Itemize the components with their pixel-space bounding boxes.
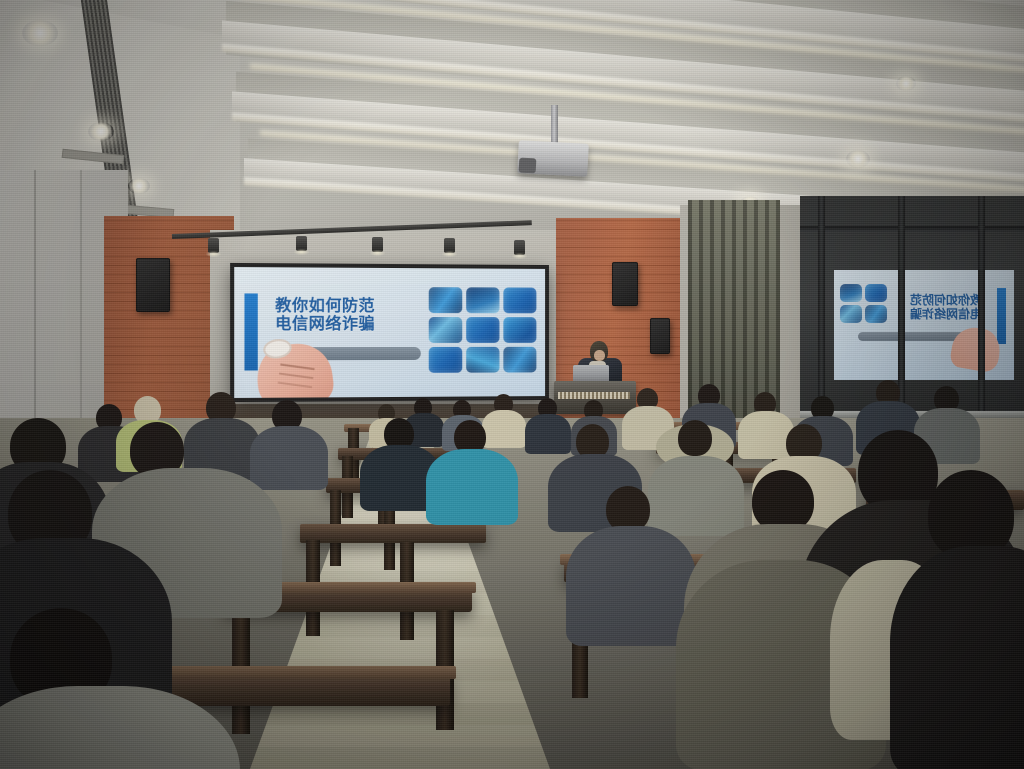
track-light-head-icon <box>444 238 455 253</box>
audience-head <box>752 470 814 532</box>
reflection-tile <box>865 284 887 302</box>
slide-tile <box>503 317 536 343</box>
audience-jacket <box>566 526 696 646</box>
track-light-head-icon <box>208 238 219 253</box>
reflection-tile <box>840 305 862 323</box>
glass-wall: 教你如何防范 电信网络诈骗 <box>800 196 1024 436</box>
slide-tile <box>466 287 499 313</box>
reflection-decor-bar <box>858 332 968 341</box>
slide-tile <box>466 317 499 343</box>
downlight-icon <box>846 150 870 168</box>
desk-surface <box>144 666 456 679</box>
speaker-icon <box>612 262 638 306</box>
slide-accent-bar <box>244 293 257 370</box>
slide-image-grid <box>429 287 537 373</box>
downlight-icon <box>128 178 150 194</box>
track-light-head-icon <box>514 240 525 255</box>
reflection-title-line-1: 教你如何防范 <box>874 294 982 308</box>
presenter-face <box>594 350 605 361</box>
reflection-image-grid <box>840 284 887 323</box>
track-light-head-icon <box>296 236 307 251</box>
speaker-icon <box>136 258 170 312</box>
lecture-hall-scene: 教你如何防范 电信网络诈骗 <box>0 0 1024 769</box>
slide-tile <box>429 347 463 373</box>
slide-title-line-1: 教你如何防范 <box>275 298 426 316</box>
downlight-icon <box>896 76 916 91</box>
audience-jacket <box>525 414 571 454</box>
reflection-title-line-2: 电信网络诈骗 <box>874 308 982 322</box>
slide-tile <box>429 287 463 313</box>
podium-nameplate <box>558 392 630 399</box>
audience-jacket <box>250 426 328 490</box>
projector-mount <box>551 105 558 147</box>
reflection-tile <box>840 284 862 302</box>
slide-tile <box>466 347 499 373</box>
presentation-slide: 教你如何防范 电信网络诈骗 <box>234 267 545 398</box>
downlight-icon <box>22 20 58 46</box>
audience-jacket <box>482 410 526 448</box>
desk-row <box>300 524 486 543</box>
slide-tile <box>503 287 536 313</box>
audience-jacket <box>738 411 794 459</box>
downlight-icon <box>88 122 114 141</box>
glass-mullion <box>978 196 985 436</box>
slide-reflection: 教你如何防范 电信网络诈骗 <box>834 270 1014 380</box>
slide-title: 教你如何防范 电信网络诈骗 <box>275 298 426 334</box>
reflection-title: 教你如何防范 电信网络诈骗 <box>874 294 982 322</box>
audience-jacket <box>426 449 518 525</box>
track-light-head-icon <box>372 237 383 252</box>
audience-head <box>678 420 712 456</box>
speaker-icon <box>650 318 670 354</box>
audience-jacket <box>890 546 1024 769</box>
projector-lens-icon <box>519 158 537 174</box>
slide-tile <box>429 317 463 343</box>
slide-tile <box>503 347 536 373</box>
glass-mullion <box>898 196 905 436</box>
projection-screen: 教你如何防范 电信网络诈骗 <box>230 263 549 402</box>
reflection-accent-bar <box>997 288 1006 344</box>
reflection-tile <box>865 305 887 323</box>
slide-title-line-2: 电信网络诈骗 <box>275 316 426 334</box>
glass-transom <box>800 226 1024 232</box>
audience-jacket <box>648 456 744 536</box>
